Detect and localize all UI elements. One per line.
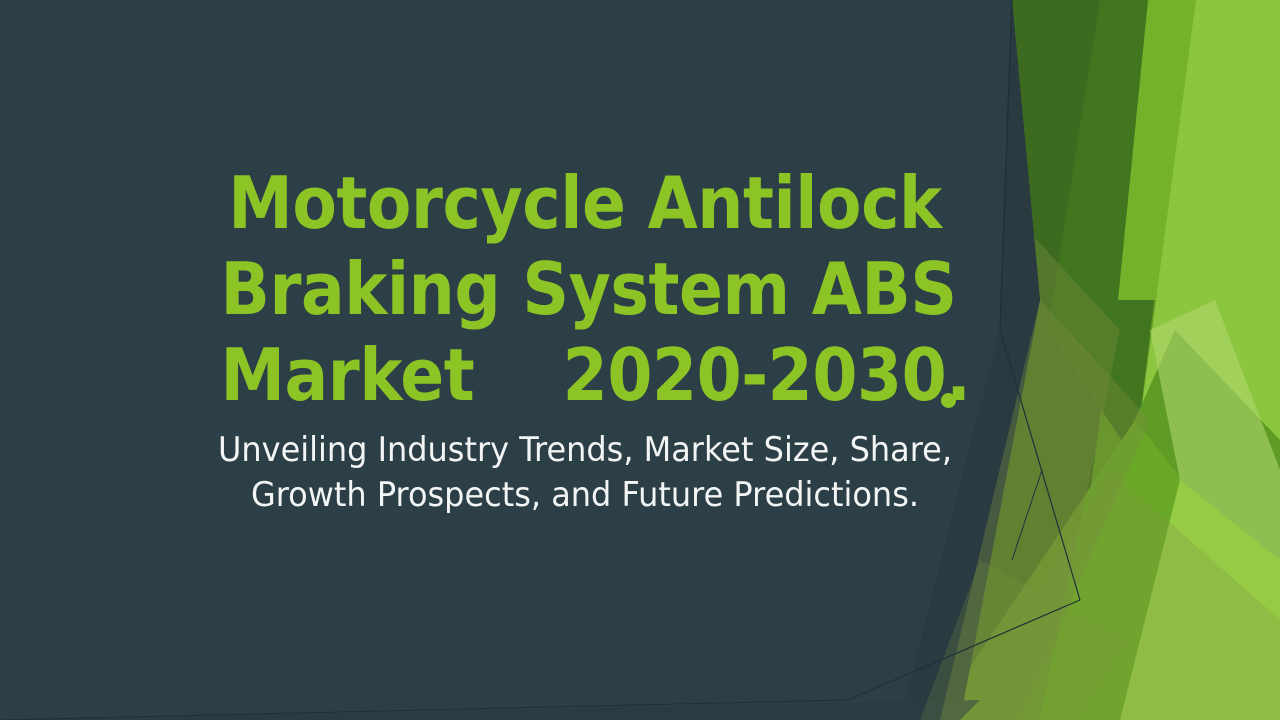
slide-subtitle: Unveiling Industry Trends, Market Size, … — [180, 428, 990, 518]
slide-title: Motorcycle Antilock Braking System ABS M… — [180, 160, 990, 418]
title-slide: Motorcycle Antilock Braking System ABS M… — [0, 0, 1280, 720]
slide-content: Motorcycle Antilock Braking System ABS M… — [0, 0, 1280, 720]
title-line-2: Braking System ABS — [221, 246, 950, 332]
green-bullet-dot — [941, 393, 956, 408]
subtitle-line-2: Growth Prospects, and Future Predictions… — [204, 473, 965, 518]
title-line-1: Motorcycle Antilock — [221, 160, 950, 246]
subtitle-line-1: Unveiling Industry Trends, Market Size, … — [204, 428, 965, 473]
title-line-3: Market 2020-2030. — [221, 332, 950, 418]
